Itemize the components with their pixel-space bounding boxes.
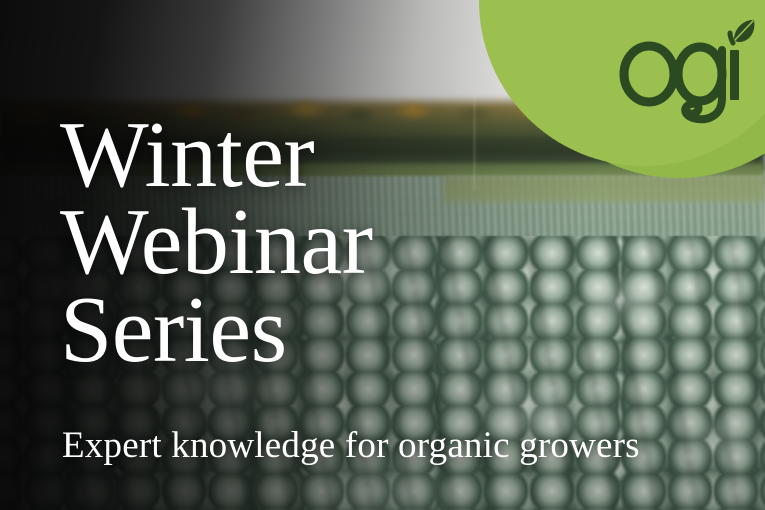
headline-line-3: Series (60, 287, 490, 374)
logo-letter-o (624, 46, 674, 102)
page-title: Winter Webinar Series (60, 112, 490, 374)
leaf-stalk (730, 33, 733, 43)
logo-badge (513, 0, 765, 178)
logo-letter-g-bowl (678, 47, 722, 101)
headline-line-1: Winter (60, 112, 490, 199)
tagline: Expert knowledge for organic growers (62, 424, 640, 467)
headline-line-2: Webinar (60, 199, 490, 286)
ogi-logo-mark (621, 24, 751, 134)
logo-letter-i-stem (730, 50, 739, 100)
winter-webinar-series-banner: Winter Webinar Series Expert knowledge f… (0, 0, 765, 510)
